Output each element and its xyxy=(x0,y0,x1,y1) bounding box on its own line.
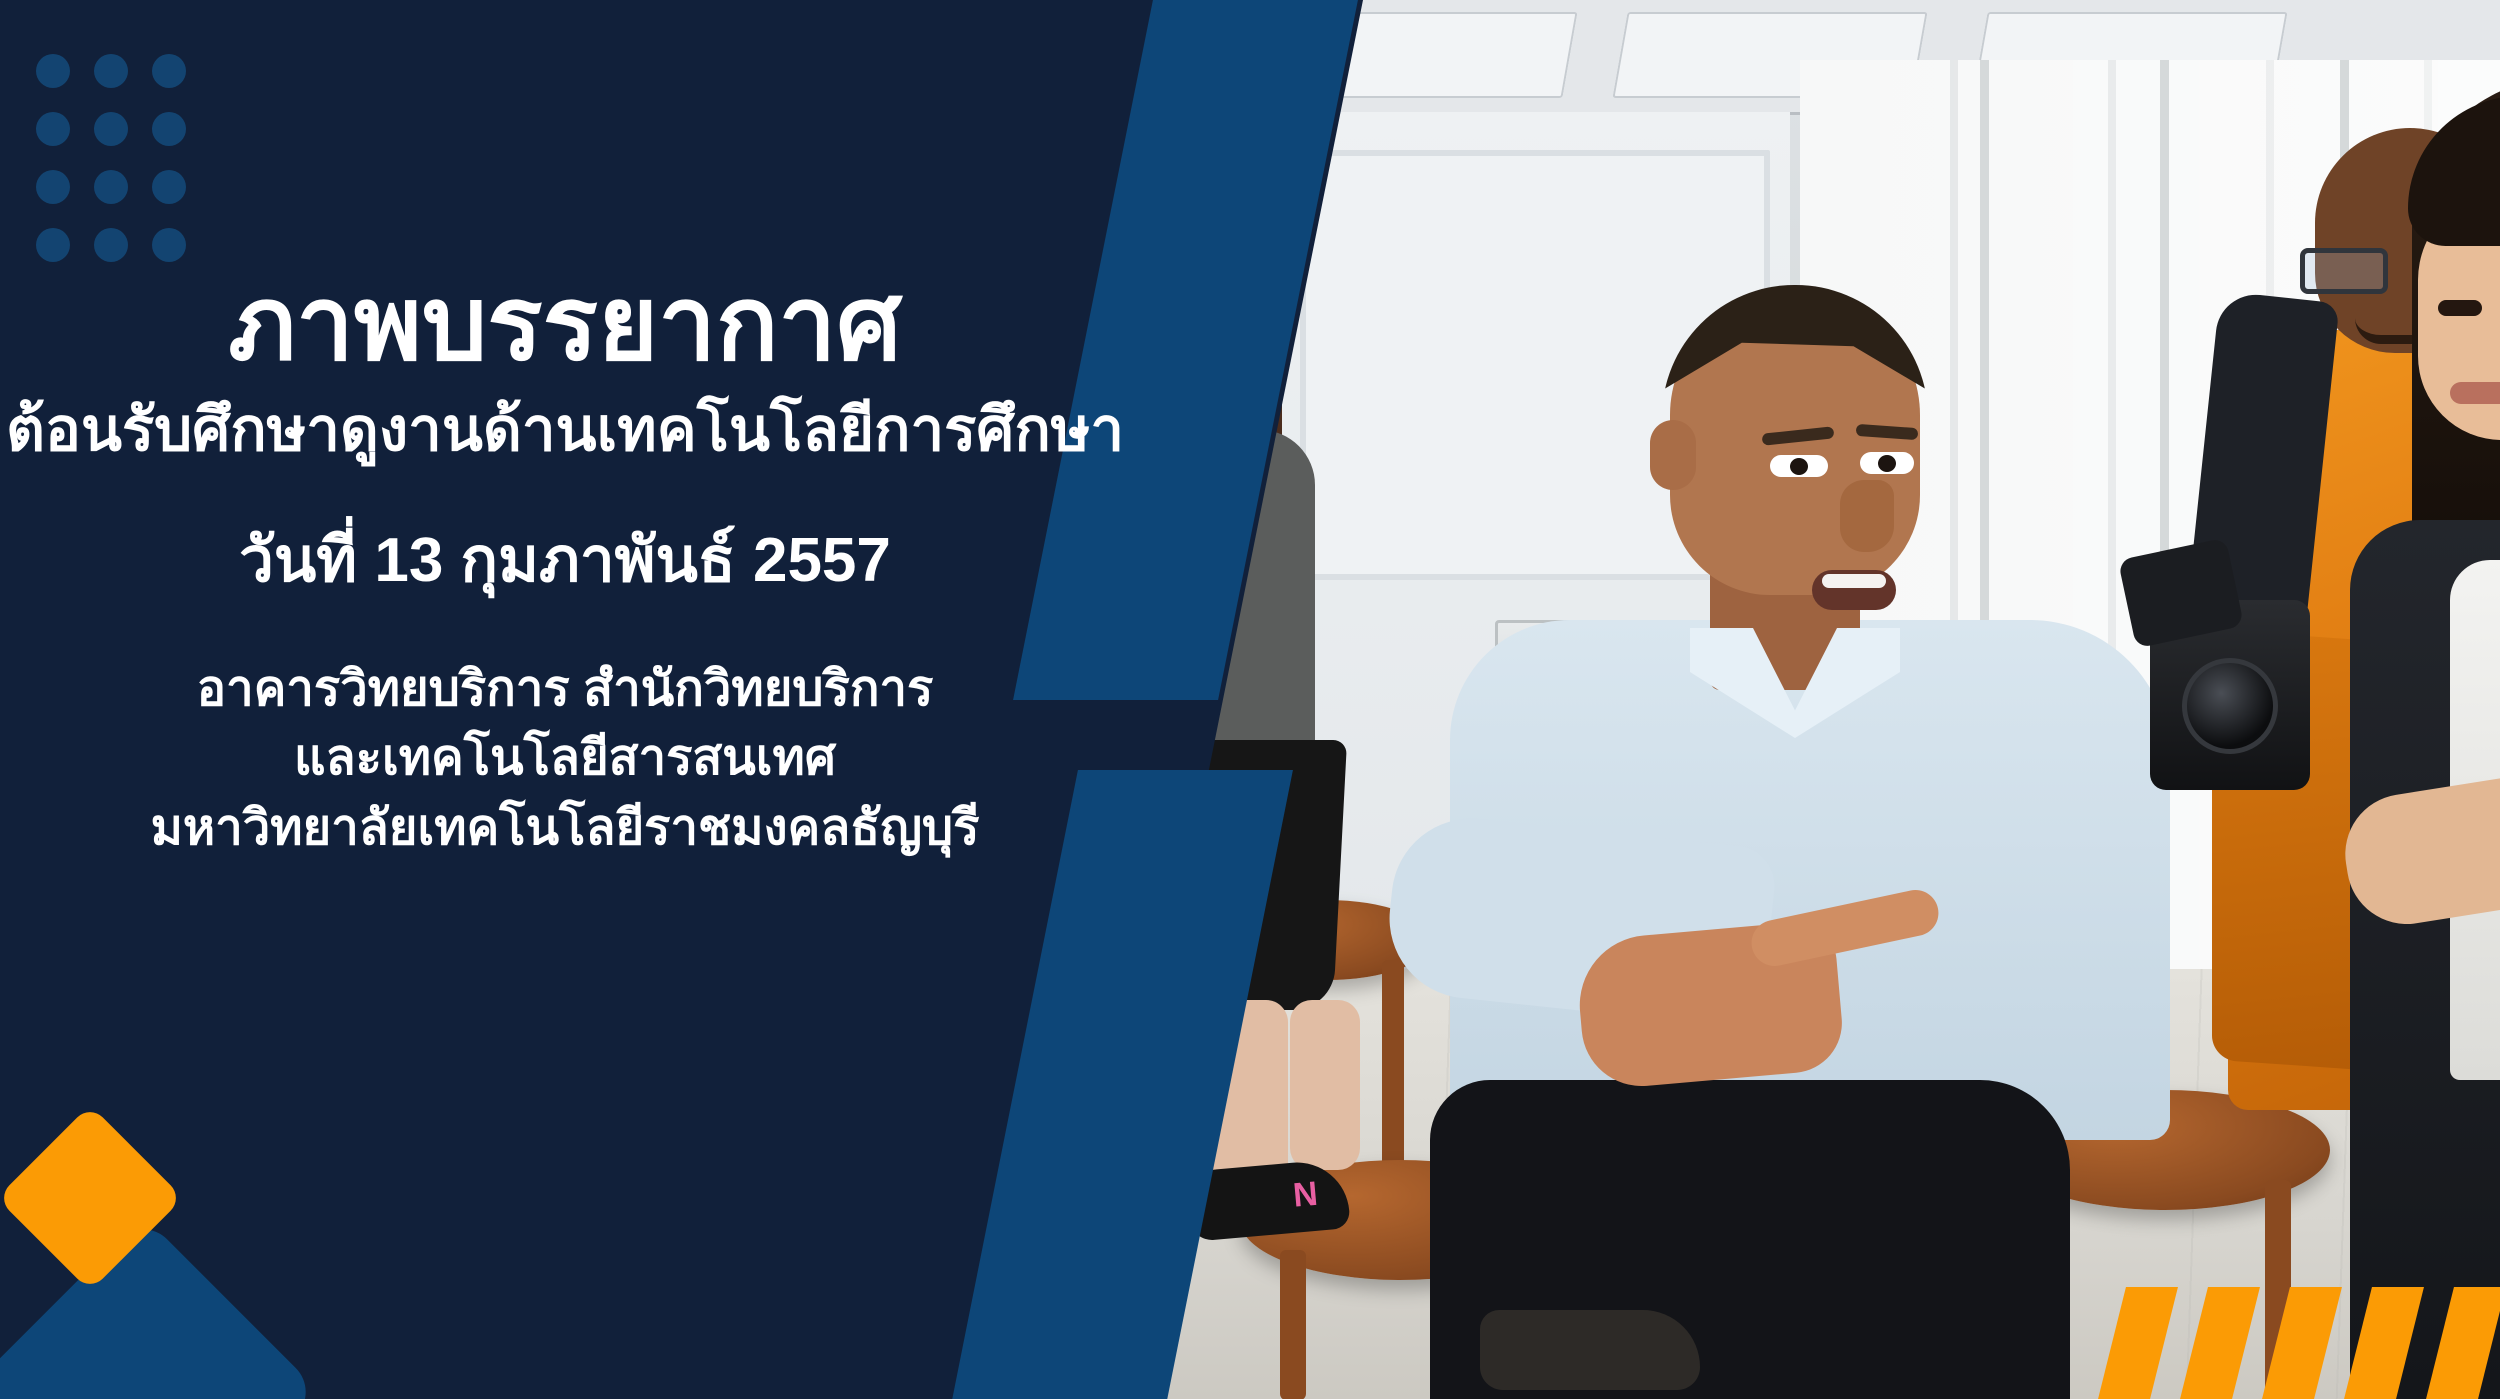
venue-line-2: และเทคโนโลยีสารสนเทศ xyxy=(0,724,1130,794)
dot xyxy=(152,112,186,146)
venue-line-1: อาคารวิทยบริการ สำนักวิทยบริการ xyxy=(0,655,1130,725)
dot xyxy=(94,54,128,88)
dot xyxy=(36,170,70,204)
shoe-brand-mark: N xyxy=(1292,1177,1319,1213)
orange-bar xyxy=(2344,1287,2424,1399)
orange-bar xyxy=(2098,1287,2178,1399)
dot xyxy=(94,228,128,262)
mouth xyxy=(1812,570,1896,610)
dot xyxy=(94,112,128,146)
mouth xyxy=(2450,382,2500,404)
banner-subtitle: ต้อนรับศึกษาดูงานด้านเทคโนโลยีการศึกษา xyxy=(0,394,1130,466)
venue-line-3: มหาวิทยาลัยเทคโนโลยีราชมงคลธัญบุรี xyxy=(0,794,1130,864)
dot xyxy=(94,170,128,204)
orange-bars-decoration xyxy=(2030,1287,2500,1399)
dot xyxy=(152,228,186,262)
event-photo: N xyxy=(1150,0,2500,1399)
eye xyxy=(1860,452,1914,474)
orange-bar xyxy=(2180,1287,2260,1399)
event-date: วันที่ 13 กุมภาพันธ์ 2557 xyxy=(0,524,1130,598)
eye xyxy=(1770,455,1828,477)
ear xyxy=(1650,420,1696,490)
event-banner: N xyxy=(0,0,2500,1399)
stool-leg xyxy=(1280,1250,1306,1399)
orange-bar xyxy=(2262,1287,2342,1399)
photo-scene: N xyxy=(1150,0,2500,1399)
dot-grid-decoration xyxy=(36,54,186,262)
dot xyxy=(152,170,186,204)
orange-bar xyxy=(2426,1287,2500,1399)
camera-lens xyxy=(2182,658,2278,754)
sandal xyxy=(1480,1310,1700,1390)
dot xyxy=(152,54,186,88)
dslr-camera xyxy=(2150,600,2310,790)
banner-text-block: ภาพบรรยากาศ ต้อนรับศึกษาดูงานด้านเทคโนโล… xyxy=(0,270,1130,863)
dot xyxy=(36,54,70,88)
nose xyxy=(1840,480,1894,552)
dot xyxy=(36,228,70,262)
eye xyxy=(2438,300,2482,316)
page-title: ภาพบรรยากาศ xyxy=(0,270,1130,378)
dot xyxy=(36,112,70,146)
venue-block: อาคารวิทยบริการ สำนักวิทยบริการ และเทคโน… xyxy=(0,655,1130,864)
leg xyxy=(1290,1000,1360,1170)
